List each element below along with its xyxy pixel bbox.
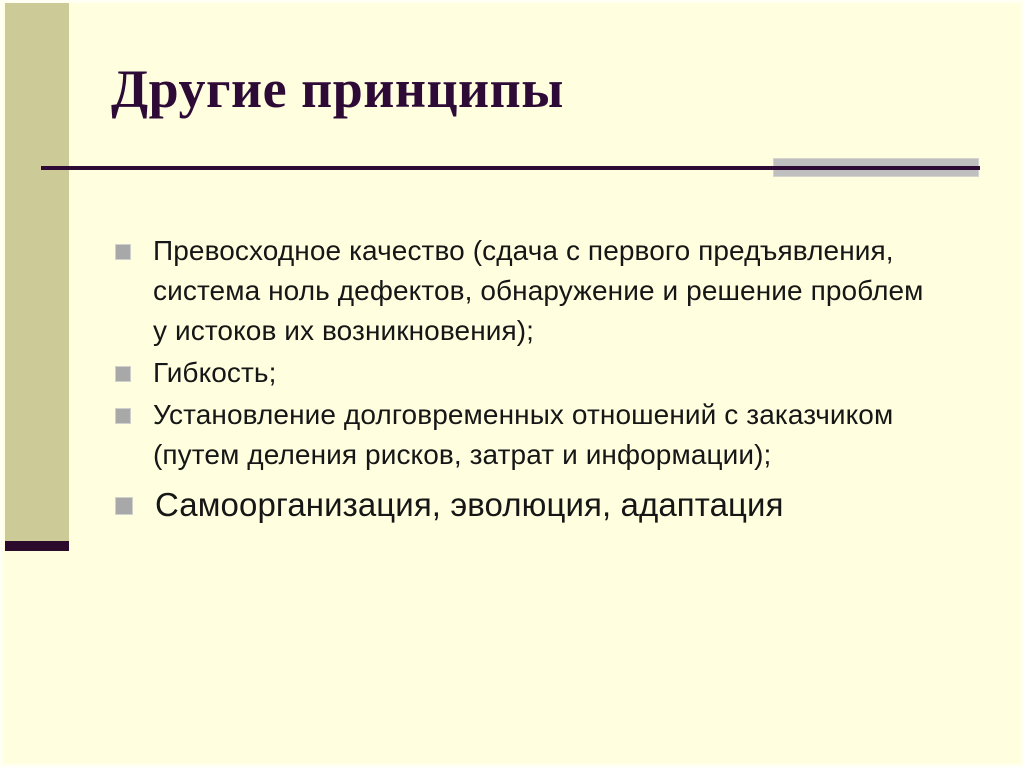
list-item-label: Гибкость; — [153, 353, 277, 393]
square-bullet-icon — [115, 244, 131, 260]
presentation-slide: Другие принципы Превосходное качество (с… — [0, 0, 1024, 767]
bullet-list: Превосходное качество (сдача с первого п… — [115, 231, 945, 530]
square-bullet-icon — [115, 366, 131, 382]
list-item: Самоорганизация, эволюция, адаптация — [115, 481, 945, 528]
square-bullet-icon — [115, 408, 131, 424]
left-accent-band-footer — [5, 541, 69, 551]
list-item: Превосходное качество (сдача с первого п… — [115, 231, 945, 351]
list-item: Установление долговременных отношений с … — [115, 395, 945, 475]
left-accent-band — [5, 3, 69, 541]
slide-title: Другие принципы — [111, 61, 931, 118]
list-item-label: Превосходное качество (сдача с первого п… — [153, 231, 945, 351]
square-bullet-icon — [115, 497, 133, 515]
list-item: Гибкость; — [115, 353, 945, 393]
list-item-label: Самоорганизация, эволюция, адаптация — [155, 481, 784, 528]
list-item-label: Установление долговременных отношений с … — [153, 395, 945, 475]
title-divider-rule — [41, 166, 980, 170]
